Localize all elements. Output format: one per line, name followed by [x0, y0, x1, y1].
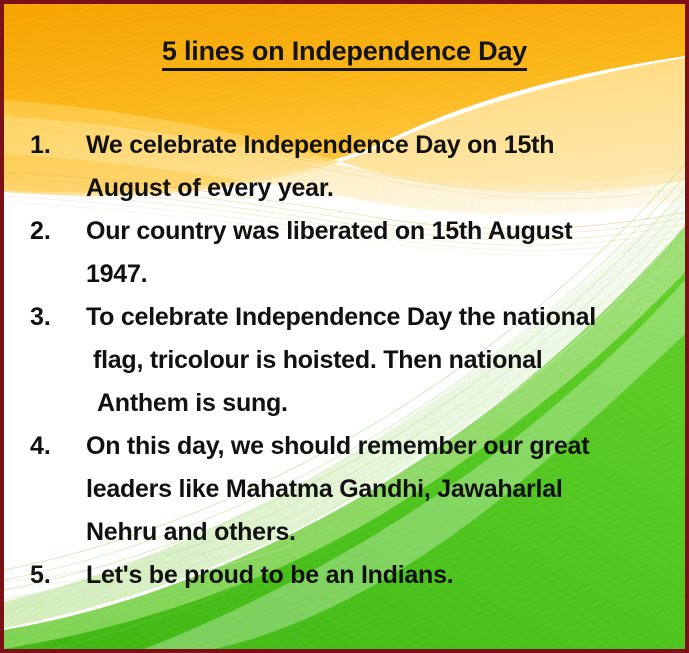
list-item: 1. We celebrate Independence Day on 15th… [30, 124, 679, 210]
list-item-line: Nehru and others. [86, 511, 679, 554]
poster-content: 5 lines on Independence Day 1. We celebr… [4, 4, 685, 649]
list-item-number: 3. [30, 296, 86, 339]
list-item-line: To celebrate Independence Day the nation… [86, 296, 679, 339]
list-item-line: leaders like Mahatma Gandhi, Jawaharlal [86, 468, 679, 511]
list-item-number: 2. [30, 210, 86, 253]
independence-day-points-list: 1. We celebrate Independence Day on 15th… [4, 124, 685, 597]
list-item: 4. On this day, we should remember our g… [30, 425, 679, 554]
list-item-line: Anthem is sung. [86, 382, 679, 425]
list-item-body: To celebrate Independence Day the nation… [86, 296, 679, 425]
list-item: 3. To celebrate Independence Day the nat… [30, 296, 679, 425]
list-item-line: flag, tricolour is hoisted. Then nationa… [86, 339, 679, 382]
list-item-body: Let's be proud to be an Indians. [86, 554, 679, 597]
list-item-number: 5. [30, 554, 86, 597]
list-item-line: 1947. [86, 253, 679, 296]
list-item-line: Our country was liberated on 15th August [86, 210, 679, 253]
independence-day-poster: 5 lines on Independence Day 1. We celebr… [0, 0, 689, 653]
list-item-body: We celebrate Independence Day on 15th Au… [86, 124, 679, 210]
list-item-line: We celebrate Independence Day on 15th [86, 124, 679, 167]
list-item-line: Let's be proud to be an Indians. [86, 554, 679, 597]
list-item-body: Our country was liberated on 15th August… [86, 210, 679, 296]
list-item: 2. Our country was liberated on 15th Aug… [30, 210, 679, 296]
list-item-number: 4. [30, 425, 86, 468]
page-title: 5 lines on Independence Day [4, 36, 685, 67]
list-item-body: On this day, we should remember our grea… [86, 425, 679, 554]
list-item-line: On this day, we should remember our grea… [86, 425, 679, 468]
list-item-line: August of every year. [86, 167, 679, 210]
list-item: 5. Let's be proud to be an Indians. [30, 554, 679, 597]
page-title-text: 5 lines on Independence Day [162, 36, 527, 71]
list-item-number: 1. [30, 124, 86, 167]
